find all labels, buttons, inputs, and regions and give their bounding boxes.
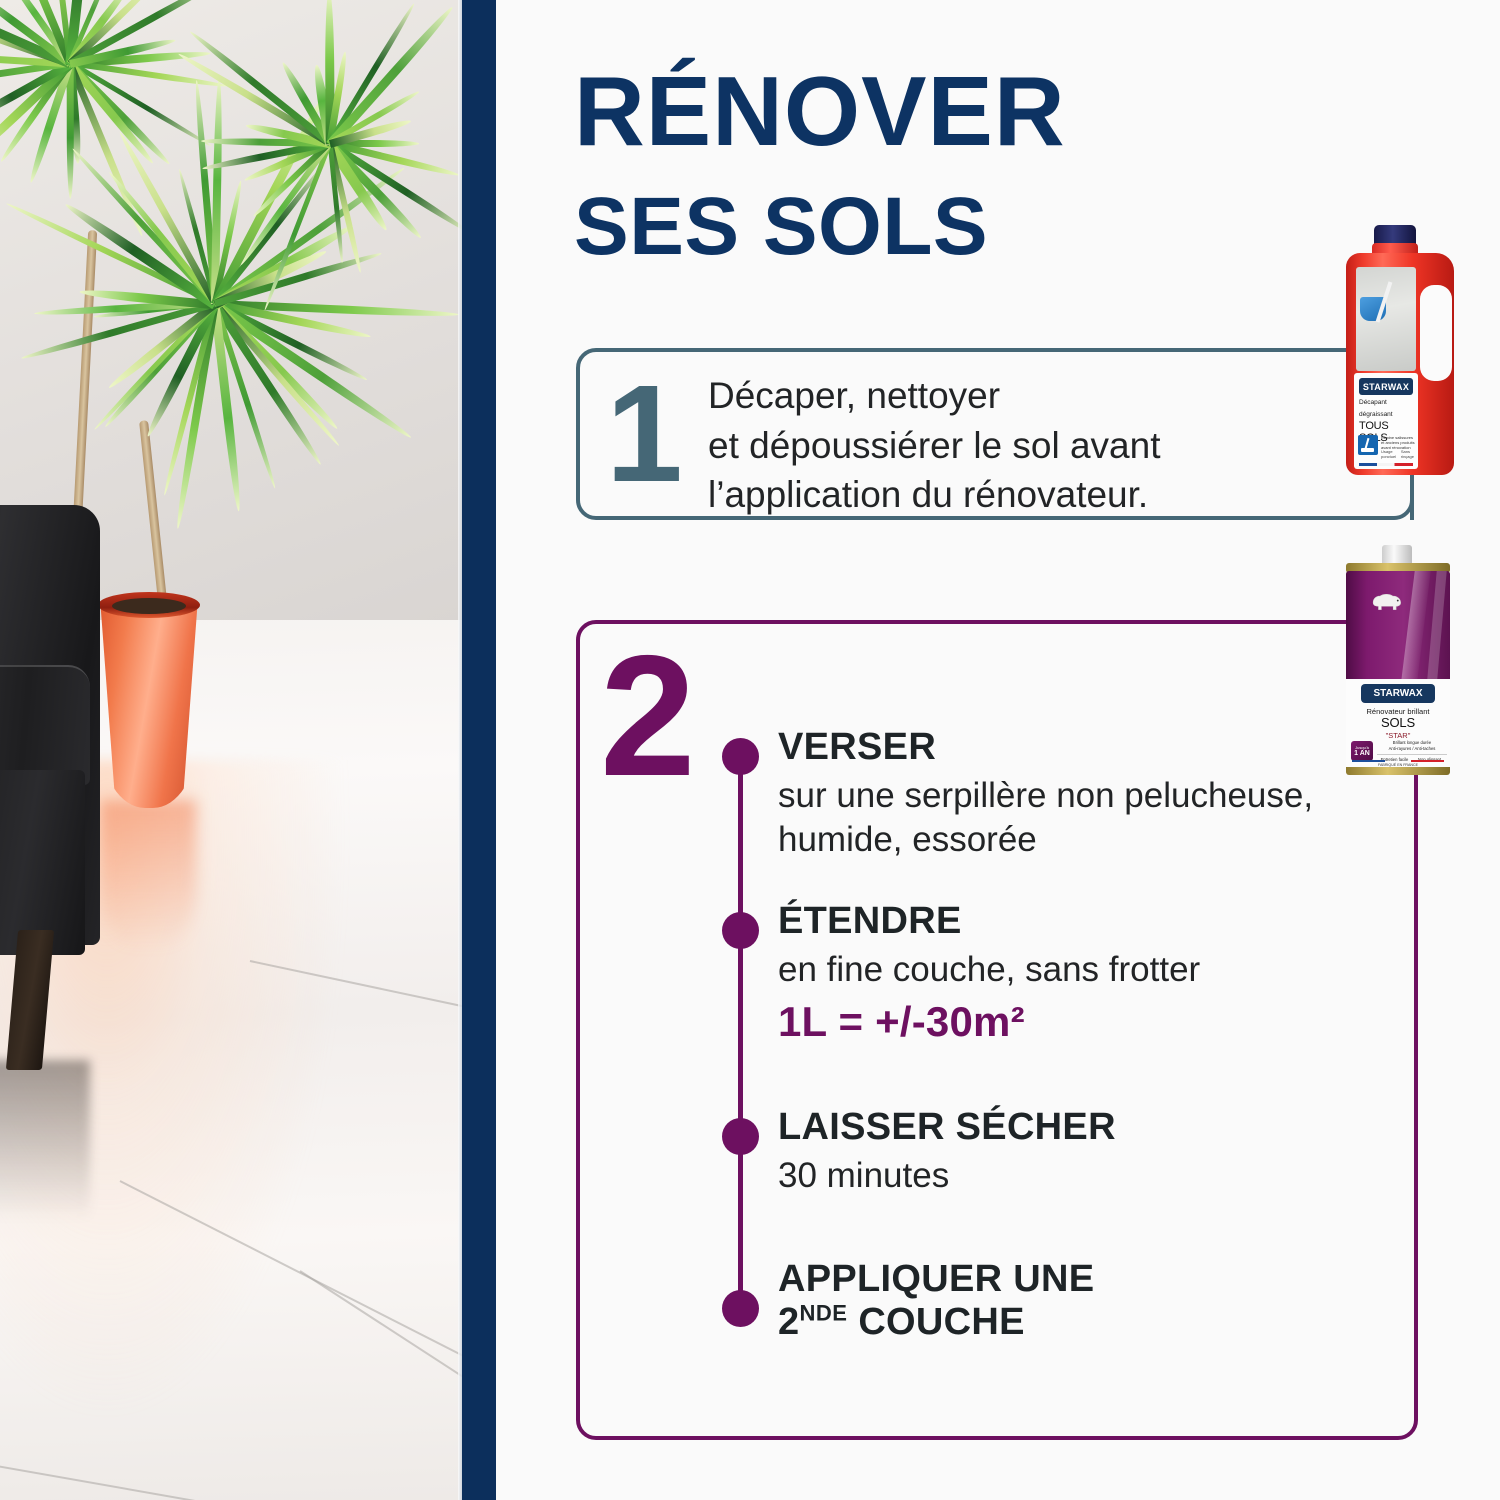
- step-1-line-1: Décaper, nettoyer: [708, 371, 1308, 421]
- step-2-item-appliquer-2nde-couche: APPLIQUER UNE 2NDE COUCHE: [778, 1258, 1398, 1343]
- leather-armchair-seat: [0, 770, 85, 955]
- page-subtitle: SES SOLS: [574, 186, 988, 268]
- room-photo: [0, 0, 462, 1500]
- step-2-item-laisser-secher: LAISSER SÉCHER 30 minutes: [778, 1106, 1398, 1198]
- bottle-handle: [1420, 285, 1452, 381]
- bottle-front-photo: [1356, 267, 1416, 371]
- tin-highlight: [1401, 571, 1431, 681]
- navy-divider-bar: [462, 0, 496, 1500]
- french-flag-icon: [1359, 463, 1413, 466]
- claim-2: Anti-rayures / Anti-taches: [1377, 746, 1447, 752]
- item-heading: LAISSER SÉCHER: [778, 1106, 1398, 1149]
- polar-bear-icon: [1370, 589, 1404, 611]
- content-panel: RÉNOVER SES SOLS 1 Décaper, nettoyer et …: [496, 0, 1500, 1500]
- orange-plant-pot: [100, 598, 198, 808]
- french-flag-icon: [1352, 760, 1444, 763]
- tin-body: STARWAX Rénovateur brillant SOLS "STAR" …: [1346, 571, 1450, 771]
- item-heading-line-2: 2NDE COUCHE: [778, 1301, 1398, 1344]
- plant-leaf: [66, 64, 74, 199]
- pot-reflection: [100, 800, 196, 950]
- timeline-dot: [722, 912, 759, 949]
- product-bottle-decapant: STARWAX Décapant dégraissant TOUS SOLS É…: [1336, 225, 1464, 475]
- item-heading: ÉTENDRE: [778, 900, 1398, 943]
- item-heading-line-1: APPLIQUER UNE: [778, 1258, 1398, 1301]
- coverage-rate: 1L = +/-30m²: [778, 998, 1398, 1046]
- item-body: 30 minutes: [778, 1154, 1398, 1199]
- product-line-1: Décapant: [1359, 399, 1418, 407]
- step-1-line-2: et dépoussiérer le sol avant: [708, 421, 1308, 471]
- timeline-dot: [722, 1290, 759, 1327]
- timeline-dot: [722, 1118, 759, 1155]
- tin-highlight: [1427, 571, 1446, 679]
- mop-pictogram-icon: [1358, 435, 1378, 455]
- product-title: SOLS: [1346, 716, 1450, 730]
- product-variant: "STAR": [1346, 731, 1450, 740]
- starwax-logo: STARWAX: [1359, 378, 1413, 395]
- step-2-timeline-line: [738, 756, 743, 1308]
- bottle-label: STARWAX Décapant dégraissant TOUS SOLS É…: [1354, 373, 1418, 469]
- page-title: RÉNOVER: [574, 62, 1066, 160]
- tin-bottom-rim: [1346, 767, 1450, 775]
- mop-head-icon: [1361, 448, 1374, 452]
- item-body: sur une serpillère non pelucheuse, humid…: [778, 774, 1438, 864]
- second-coat-word: COUCHE: [858, 1301, 1024, 1343]
- step-1-text: Décaper, nettoyer et dépoussiérer le sol…: [708, 371, 1308, 520]
- tin-label: STARWAX Rénovateur brillant SOLS "STAR" …: [1346, 679, 1450, 771]
- sans-rincage: Sans rinçage: [1401, 449, 1415, 459]
- second-coat-number: 2: [778, 1301, 799, 1343]
- product-usage-row: Usage ponctuel Sans rinçage: [1381, 449, 1415, 459]
- timeline-dot: [722, 738, 759, 775]
- infographic-page: RÉNOVER SES SOLS 1 Décaper, nettoyer et …: [0, 0, 1500, 1500]
- product-line-2: dégraissant: [1359, 411, 1418, 419]
- step-1-line-3: l’application du rénovateur.: [708, 470, 1308, 520]
- step-2-item-etendre: ÉTENDRE en fine couche, sans frotter 1L …: [778, 900, 1398, 1046]
- duration-badge: Jusqu'à 1 AN: [1351, 741, 1373, 761]
- chair-reflection: [0, 1060, 90, 1220]
- usage-ponctuel: Usage ponctuel: [1381, 449, 1398, 459]
- leather-armchair-arm: [0, 665, 90, 785]
- product-tin-renovateur: STARWAX Rénovateur brillant SOLS "STAR" …: [1332, 545, 1462, 780]
- item-body: en fine couche, sans frotter: [778, 948, 1398, 993]
- starwax-logo: STARWAX: [1361, 684, 1435, 703]
- second-coat-ordinal: NDE: [799, 1300, 847, 1325]
- pot-soil: [112, 598, 186, 614]
- step-1-number: 1: [606, 365, 683, 503]
- step-2-number: 2: [600, 630, 696, 802]
- badge-big-text: 1 AN: [1354, 750, 1370, 757]
